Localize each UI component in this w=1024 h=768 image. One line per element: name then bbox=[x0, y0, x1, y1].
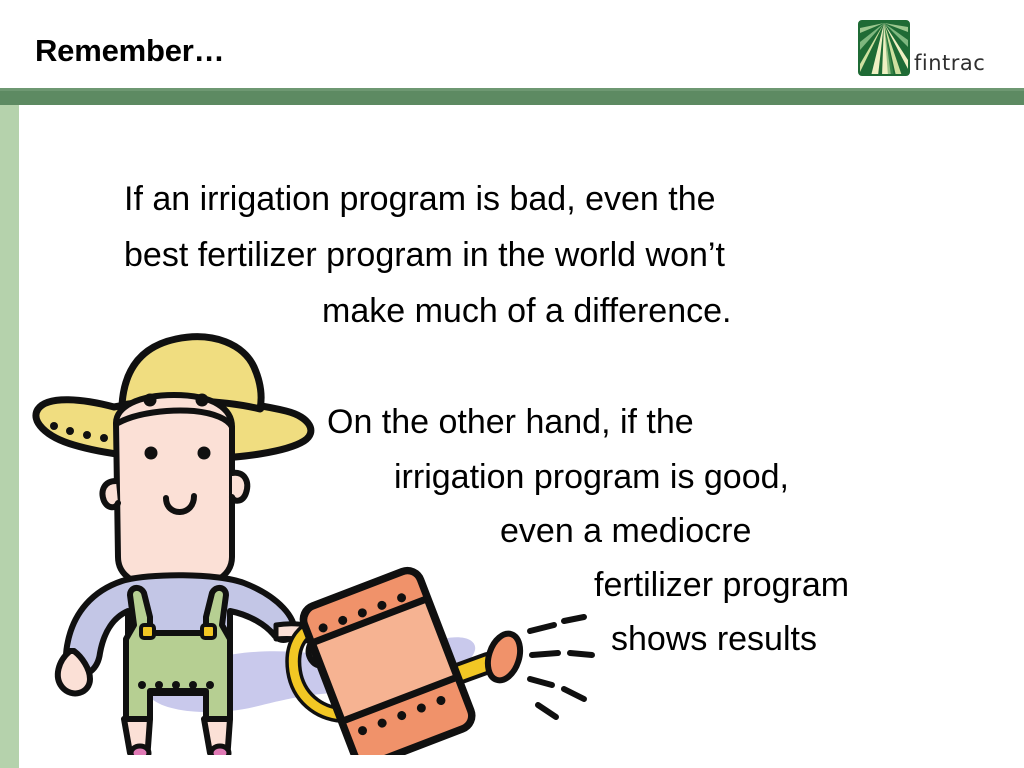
slide-canvas: Remember… bbox=[0, 0, 1024, 768]
fintrac-rays-logo-icon bbox=[858, 20, 910, 76]
left-green-sidebar bbox=[0, 105, 19, 768]
paragraph1-line1: If an irrigation program is bad, even th… bbox=[124, 180, 716, 219]
paragraph1-line2: best fertilizer program in the world won… bbox=[124, 236, 725, 275]
left-eye bbox=[144, 394, 157, 407]
paragraph2-line2: irrigation program is good, bbox=[394, 458, 789, 497]
water-spray-lines bbox=[530, 617, 592, 717]
farmer-head-shape bbox=[103, 394, 248, 590]
header-green-rule-highlight bbox=[0, 88, 1024, 91]
paragraph2-line1: On the other hand, if the bbox=[327, 403, 694, 442]
paragraph1-line3: make much of a difference. bbox=[322, 292, 731, 331]
fintrac-wordmark: fintrac bbox=[914, 51, 985, 75]
paragraph2-line3: even a mediocre bbox=[500, 512, 751, 551]
paragraph2-line4: fertilizer program bbox=[594, 566, 849, 605]
page-title: Remember… bbox=[35, 33, 224, 69]
header-green-rule bbox=[0, 88, 1024, 105]
paragraph2-line5: shows results bbox=[611, 620, 817, 659]
watering-can-shape bbox=[293, 567, 592, 755]
fintrac-logo: fintrac bbox=[858, 20, 1008, 80]
right-eye bbox=[196, 394, 209, 407]
